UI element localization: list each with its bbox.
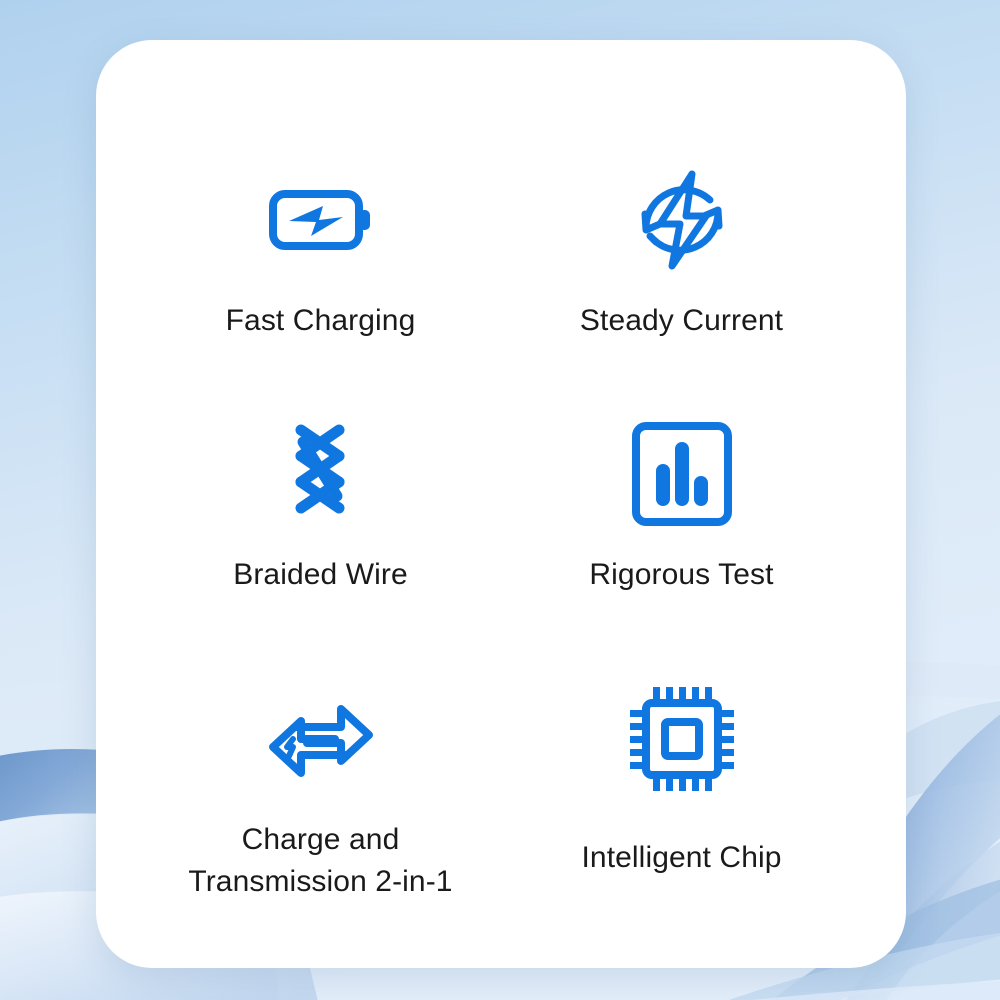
- bolt-circular-arrows-icon: [620, 158, 744, 282]
- feature-label: Charge and Transmission 2-in-1: [188, 819, 452, 904]
- feature-item-intelligent-chip[interactable]: Intelligent Chip: [501, 637, 862, 904]
- feature-label: Intelligent Chip: [581, 819, 781, 880]
- feature-card: Fast Charging: [96, 40, 906, 968]
- feature-label: Rigorous Test: [589, 554, 773, 597]
- feature-label: Braided Wire: [233, 554, 408, 597]
- feature-item-rigorous-test[interactable]: Rigorous Test: [501, 374, 862, 636]
- feature-label: Fast Charging: [226, 300, 416, 343]
- feature-item-fast-charging[interactable]: Fast Charging: [140, 112, 501, 374]
- feature-grid: Fast Charging: [96, 40, 906, 968]
- braided-weave-icon: [259, 412, 383, 536]
- bar-chart-square-icon: [620, 412, 744, 536]
- feature-item-braided-wire[interactable]: Braided Wire: [140, 374, 501, 636]
- cpu-chip-icon: [620, 677, 744, 801]
- feature-label: Steady Current: [580, 300, 783, 343]
- page-root: Fast Charging: [0, 0, 1000, 1000]
- battery-bolt-icon: [259, 158, 383, 282]
- feature-item-charge-transmission[interactable]: Charge and Transmission 2-in-1: [140, 637, 501, 904]
- feature-item-steady-current[interactable]: Steady Current: [501, 112, 862, 374]
- two-way-arrows-bolt-icon: [259, 677, 383, 801]
